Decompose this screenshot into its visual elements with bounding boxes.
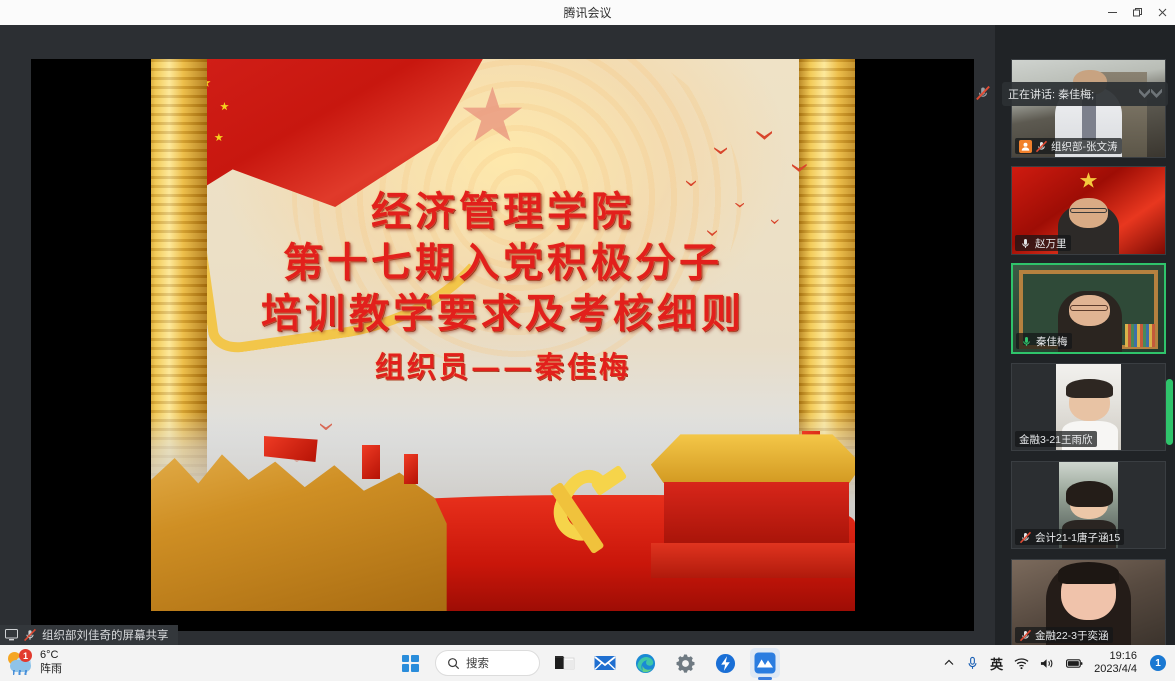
participant-name-badge: 金融3-21王雨欣 (1015, 431, 1097, 447)
windows-taskbar[interactable]: 1 6°C 阵雨 搜索 (0, 645, 1175, 681)
taskbar-search-box[interactable]: 搜索 (435, 650, 540, 676)
participant-tile[interactable]: 会计21-1唐子涵15 (1011, 461, 1166, 549)
slide-line-3: 培训教学要求及考核细则 (151, 288, 855, 339)
shared-screen-video[interactable]: 经济管理学院 第十七期入党积极分子 培训教学要求及考核细则 组织员——秦佳梅 (31, 59, 974, 631)
chevron-double-down-icon[interactable] (1139, 89, 1162, 100)
close-button[interactable] (1150, 0, 1175, 25)
battery-icon[interactable] (1066, 658, 1083, 669)
participant-sidebar[interactable]: 组织部-张文涛 赵万里 (995, 25, 1175, 645)
screen-share-banner: 组织部刘佳奇的屏幕共享 (0, 625, 178, 645)
clock-date: 2023/4/4 (1094, 663, 1137, 676)
participant-tile[interactable]: 赵万里 (1011, 166, 1166, 255)
window-controls (1100, 0, 1175, 25)
ime-language-indicator[interactable]: 英 (990, 654, 1003, 673)
participant-name: 金融22-3于奕涵 (1035, 628, 1109, 643)
window-title-bar: 腾讯会议 (0, 0, 1175, 25)
taskbar-clock[interactable]: 19:16 2023/4/4 (1094, 650, 1139, 676)
host-badge-icon (1019, 140, 1032, 153)
sidebar-scrollbar[interactable] (1166, 59, 1173, 639)
participant-name: 组织部-张文涛 (1051, 139, 1118, 154)
mail-icon[interactable] (590, 648, 620, 678)
mic-icon[interactable] (966, 656, 979, 671)
mic-icon (1019, 237, 1032, 250)
windows-logo-icon (402, 655, 419, 672)
scrollbar-thumb[interactable] (1166, 379, 1173, 445)
slide-line-1: 经济管理学院 (151, 186, 855, 237)
participant-name-badge: 金融22-3于奕涵 (1015, 627, 1113, 643)
wifi-icon[interactable] (1014, 657, 1029, 670)
monitor-icon (5, 629, 18, 641)
mic-muted-icon (23, 628, 37, 642)
settings-icon[interactable] (670, 648, 700, 678)
tray-overflow-icon[interactable] (943, 657, 955, 669)
edge-icon[interactable] (630, 648, 660, 678)
participant-name-badge: 赵万里 (1015, 235, 1071, 251)
start-button[interactable] (395, 648, 425, 678)
shared-screen-stage[interactable]: 经济管理学院 第十七期入党积极分子 培训教学要求及考核细则 组织员——秦佳梅 组… (0, 25, 995, 645)
participant-name: 赵万里 (1035, 236, 1067, 251)
mic-muted-icon (1019, 629, 1032, 642)
participant-name: 秦佳梅 (1036, 334, 1068, 349)
participant-tile[interactable]: 组织部-张文涛 (1011, 59, 1166, 158)
participant-tile[interactable]: 金融22-3于奕涵 (1011, 559, 1166, 647)
slide-line-4: 组织员——秦佳梅 (151, 340, 855, 395)
participant-tile[interactable]: 金融3-21王雨欣 (1011, 363, 1166, 451)
minimize-button[interactable] (1100, 0, 1125, 25)
restore-button[interactable] (1125, 0, 1150, 25)
mic-muted-icon (1019, 531, 1032, 544)
search-icon (447, 657, 460, 670)
active-speaker-banner[interactable]: 正在讲话: 秦佳梅; (1002, 82, 1168, 106)
active-speaker-label: 正在讲话: 秦佳梅; (1008, 86, 1133, 102)
mic-muted-icon (1035, 140, 1048, 153)
participant-name: 会计21-1唐子涵15 (1035, 530, 1120, 545)
mic-icon (1020, 335, 1033, 348)
meeting-window-body: 经济管理学院 第十七期入党积极分子 培训教学要求及考核细则 组织员——秦佳梅 组… (0, 25, 1175, 645)
participant-tile-active-speaker[interactable]: 秦佳梅 (1011, 263, 1166, 354)
participant-name: 金融3-21王雨欣 (1019, 432, 1093, 447)
slide-title-block: 经济管理学院 第十七期入党积极分子 培训教学要求及考核细则 组织员——秦佳梅 (151, 186, 855, 395)
slide-line-2: 第十七期入党积极分子 (151, 237, 855, 288)
participant-name-badge: 秦佳梅 (1016, 333, 1072, 349)
tiananmen-gate-decoration (651, 434, 855, 578)
system-tray[interactable]: 英 19:16 2023/4/4 (943, 645, 1175, 681)
file-explorer-icon[interactable] (550, 648, 580, 678)
presentation-slide: 经济管理学院 第十七期入党积极分子 培训教学要求及考核细则 组织员——秦佳梅 (151, 59, 855, 611)
screen-share-label: 组织部刘佳奇的屏幕共享 (42, 627, 169, 643)
app-blue-icon[interactable] (710, 648, 740, 678)
volume-icon[interactable] (1040, 657, 1055, 670)
window-title: 腾讯会议 (0, 4, 1175, 21)
cpc-emblem-icon (552, 457, 640, 567)
participant-name-badge: 会计21-1唐子涵15 (1015, 529, 1124, 545)
search-placeholder: 搜索 (466, 655, 489, 671)
clock-time: 19:16 (1094, 650, 1137, 663)
mic-muted-icon (975, 85, 991, 101)
participant-name-badge: 组织部-张文涛 (1015, 138, 1122, 154)
tencent-meeting-icon[interactable] (750, 648, 780, 678)
notification-badge[interactable]: 1 (1150, 655, 1166, 671)
